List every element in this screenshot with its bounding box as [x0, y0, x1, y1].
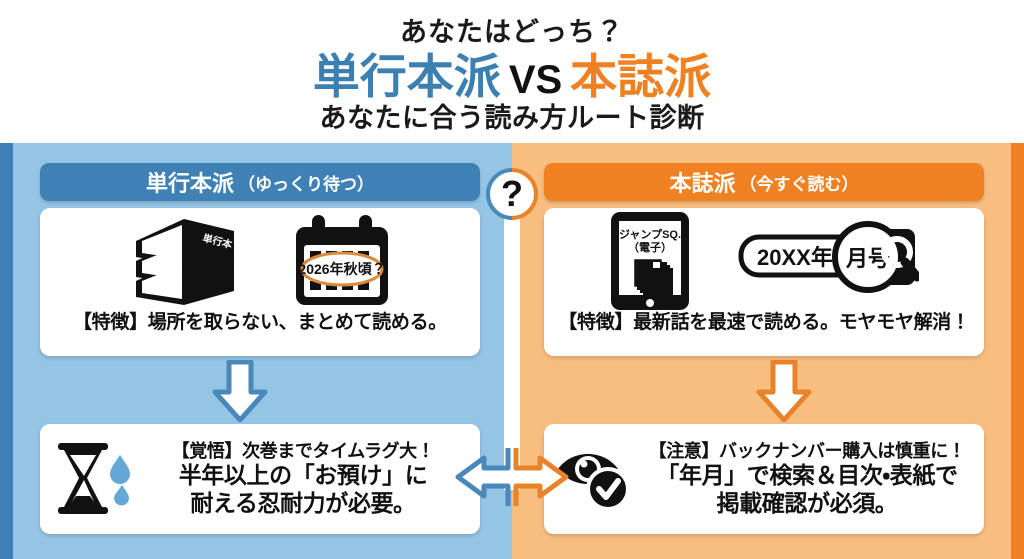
- header-pill-left: 単行本派 （ゆっくり待つ）: [40, 163, 480, 201]
- header-pill-left-title: 単行本派: [146, 166, 234, 198]
- left-icon-row: 単行本: [40, 208, 480, 313]
- infographic-root: あなたはどっち？ 単行本派VS本誌派 あなたに合う読み方ルート診断 単行本派 （…: [0, 0, 1024, 559]
- hourglass-icon: [54, 441, 134, 517]
- calendar-date-label: 2026年秋頃？: [298, 261, 385, 277]
- left-outcome-icon-wrap: [52, 441, 136, 517]
- main-title: 単行本派VS本誌派: [0, 46, 1024, 101]
- tablet-label-line1: ジャンプSQ.: [619, 227, 681, 241]
- right-icon-row: ジャンプSQ. （電子） 20XX年X 月号: [544, 208, 984, 313]
- right-outcome-line3: 掲載確認が必須。: [640, 490, 974, 517]
- right-outcome-text: 【注意】バックナンバー購入は慎重に！ 「年月」で検索＆目次・表紙で 掲載確認が必…: [640, 441, 974, 516]
- left-outcome-line2: 半年以上の「お預け」に: [136, 462, 470, 489]
- left-outcome-inner: 【覚悟】次巻までタイムラグ大！ 半年以上の「お預け」に 耐える忍耐力が必要。: [40, 424, 480, 534]
- tablet-icon: ジャンプSQ. （電子）: [609, 210, 691, 312]
- down-arrow-icon-right: [755, 360, 813, 422]
- main-title-right-term: 本誌派: [570, 50, 711, 103]
- main-title-vs: VS: [501, 58, 570, 102]
- down-arrow-icon-left: [211, 360, 269, 422]
- subtitle-text: あなたに合う読み方ルート診断: [0, 101, 1024, 132]
- right-feature-text: 【特徴】最新話を最速で読める。モヤモヤ解消！: [544, 313, 984, 332]
- right-outcome-inner: 【注意】バックナンバー購入は慎重に！ 「年月」で検索＆目次・表紙で 掲載確認が必…: [544, 424, 984, 534]
- card-right-feature: ジャンプSQ. （電子） 20XX年X 月号: [544, 208, 984, 356]
- swap-arrows-icon: [452, 444, 572, 510]
- header-pill-right-note: （今すぐ読む）: [736, 170, 859, 195]
- tablet-label-line2: （電子）: [628, 241, 672, 254]
- main-title-left-term: 単行本派: [313, 50, 501, 103]
- header-pill-left-note: （ゆっくり待つ）: [234, 170, 374, 195]
- header-pill-right: 本誌派 （今すぐ読む）: [544, 163, 984, 201]
- frame-strip-right: [1011, 143, 1024, 559]
- card-right-outcome: 【注意】バックナンバー購入は慎重に！ 「年月」で検索＆目次・表紙で 掲載確認が必…: [544, 424, 984, 534]
- left-outcome-line3: 耐える忍耐力が必要。: [136, 490, 470, 517]
- title-block: あなたはどっち？ 単行本派VS本誌派 あなたに合う読み方ルート診断: [0, 0, 1024, 143]
- calendar-icon: 2026年秋頃？: [290, 213, 394, 309]
- right-outcome-line2: 「年月」で検索＆目次・表紙で: [640, 462, 974, 489]
- question-mark-label: ?: [484, 166, 540, 222]
- right-outcome-line1: 【注意】バックナンバー購入は慎重に！: [640, 441, 974, 462]
- header-pill-right-title: 本誌派: [669, 166, 735, 198]
- left-outcome-text: 【覚悟】次巻までタイムラグ大！ 半年以上の「お預け」に 耐える忍耐力が必要。: [136, 441, 470, 516]
- left-feature-text: 【特徴】場所を取らない、まとめて読める。: [40, 313, 480, 332]
- frame-strip-left: [0, 143, 13, 559]
- left-outcome-line1: 【覚悟】次巻までタイムラグ大！: [136, 441, 470, 462]
- magnifier-search-icon: 20XX年X 月号: [737, 215, 919, 307]
- card-left-feature: 単行本: [40, 208, 480, 356]
- card-left-outcome: 【覚悟】次巻までタイムラグ大！ 半年以上の「お預け」に 耐える忍耐力が必要。: [40, 424, 480, 534]
- kicker-text: あなたはどっち？: [0, 0, 1024, 46]
- stacked-books-icon: 単行本: [126, 215, 244, 307]
